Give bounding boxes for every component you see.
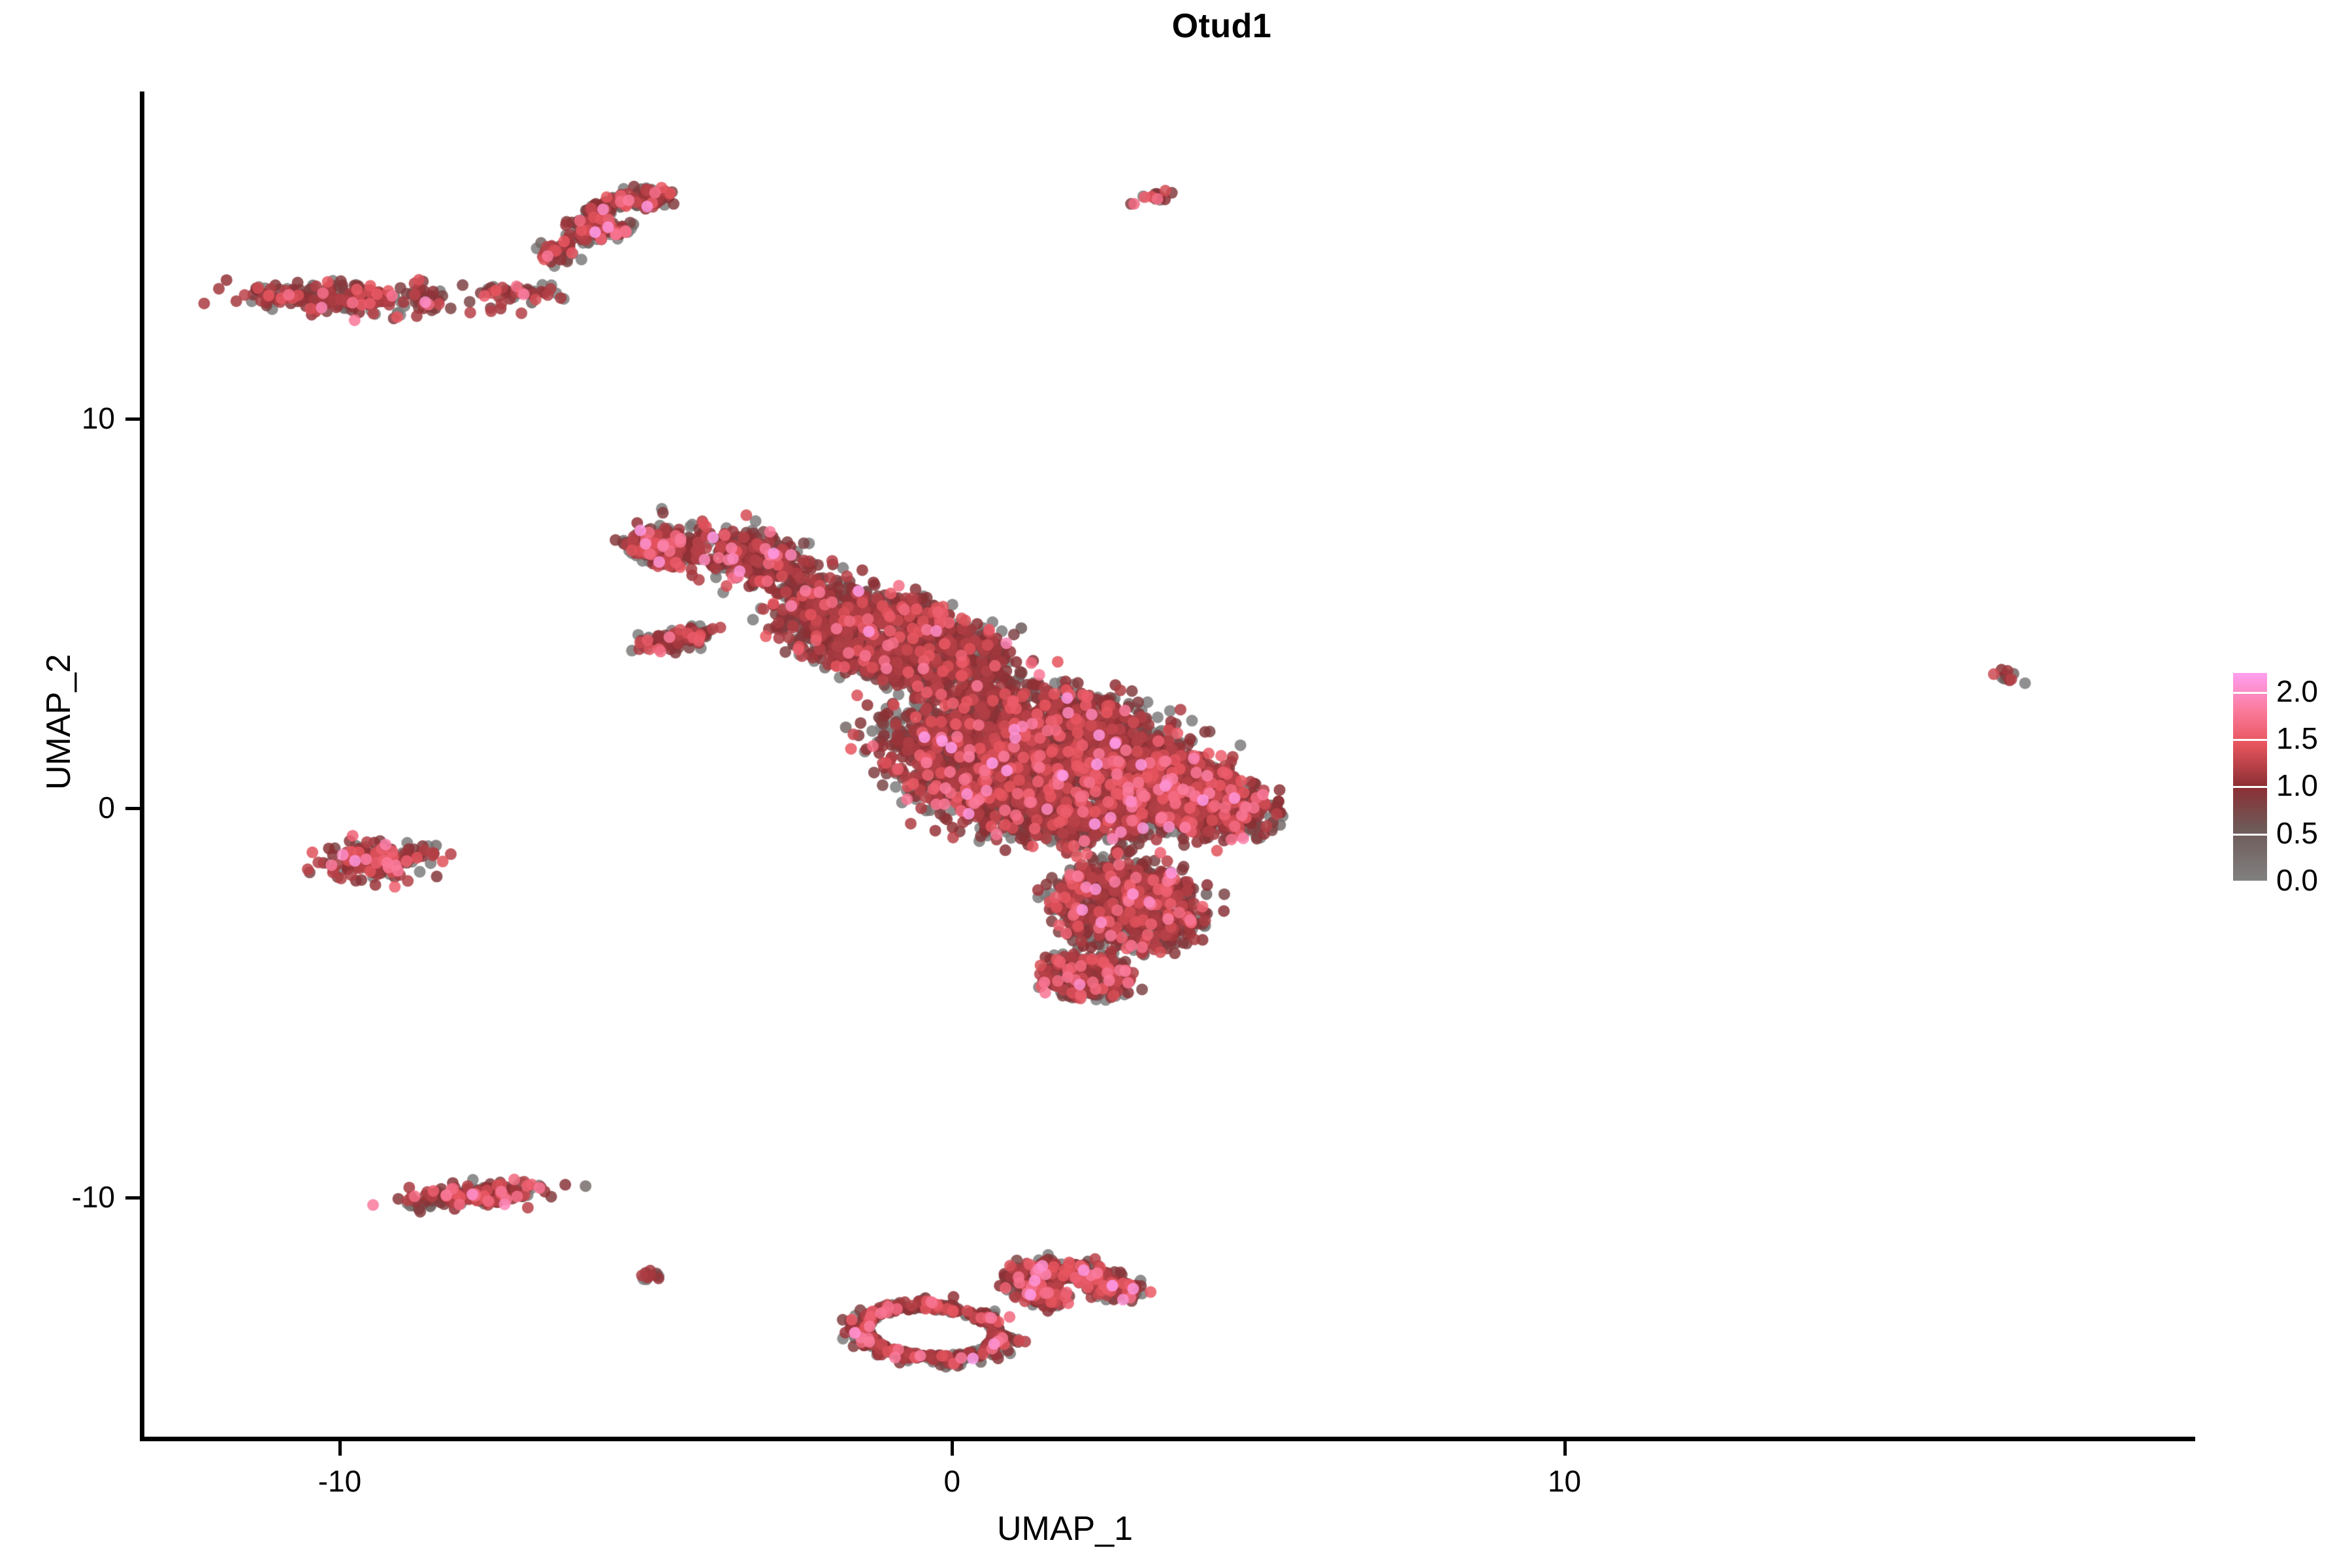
x-tick-label: -10 xyxy=(242,1463,438,1499)
y-tick-mark xyxy=(125,417,140,421)
umap-feature-plot: Otud1 -10010 -10010 UMAP_1 UMAP_2 0.00.5… xyxy=(0,0,2352,1568)
page-title: Otud1 xyxy=(0,7,2352,46)
x-tick-mark xyxy=(1563,1441,1567,1456)
colorbar-tick-label: 0.0 xyxy=(2276,865,2318,895)
x-tick-label: 0 xyxy=(854,1463,1050,1499)
x-tick-mark xyxy=(338,1441,342,1456)
colorbar-tick-label: 1.5 xyxy=(2276,723,2318,753)
y-axis-label: UMAP_2 xyxy=(39,297,78,1147)
colorbar-tick-mark xyxy=(2233,881,2267,883)
x-axis-label: UMAP_1 xyxy=(144,1509,2195,1548)
x-axis-line xyxy=(140,1437,2195,1441)
y-tick-mark xyxy=(125,1196,140,1200)
scatter-plot-panel[interactable] xyxy=(144,91,2195,1439)
colorbar-tick-label: 0.5 xyxy=(2276,818,2318,848)
y-tick-mark xyxy=(125,807,140,810)
y-tick-label: -10 xyxy=(0,1179,115,1215)
colorbar-tick-label: 1.0 xyxy=(2276,770,2318,800)
colorbar-tick-label: 2.0 xyxy=(2276,676,2318,706)
color-legend[interactable]: 0.00.51.01.52.0 xyxy=(2233,673,2351,895)
scatter-points-canvas[interactable] xyxy=(144,91,2195,1439)
y-axis-line xyxy=(140,91,144,1441)
x-tick-label: 10 xyxy=(1467,1463,1663,1499)
x-tick-mark xyxy=(951,1441,954,1456)
colorbar-gradient xyxy=(2233,673,2267,881)
